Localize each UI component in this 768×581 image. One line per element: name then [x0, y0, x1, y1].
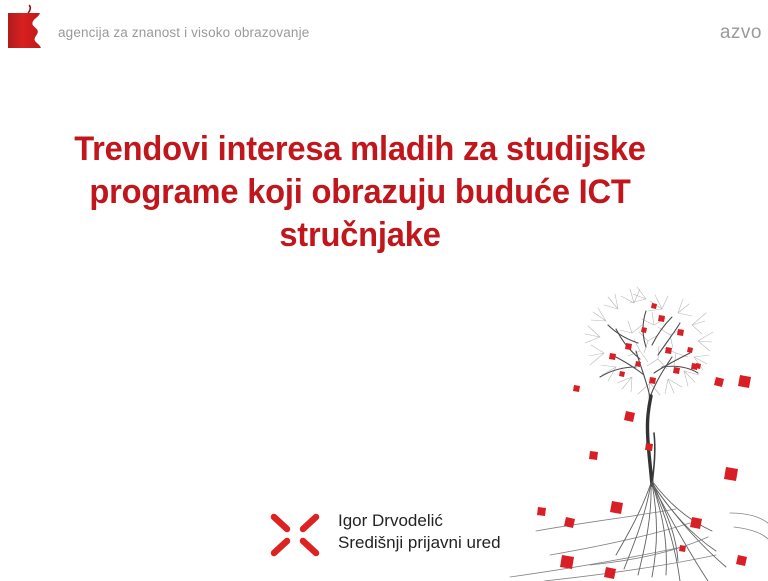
azvo-wordmark: azvo: [720, 22, 762, 44]
spu-four-dashes-x-icon: [266, 511, 324, 559]
azvo-apple-logo-icon: [8, 4, 46, 54]
presenter-name: Igor Drvodelić: [338, 510, 501, 532]
presenter-office: Središnji prijavni ured: [338, 532, 501, 554]
slide-title: Trendovi interesa mladih za studijske pr…: [40, 128, 680, 257]
slide-header: agencija za znanost i visoko obrazovanje…: [0, 0, 768, 62]
presentation-slide: agencija za znanost i visoko obrazovanje…: [0, 0, 768, 581]
title-line-2: programe koji obrazuju buduće ICT: [53, 171, 667, 214]
title-line-3: stručnjake: [53, 214, 667, 257]
organization-name: agencija za znanost i visoko obrazovanje: [58, 25, 309, 40]
presenter-block: Igor Drvodelić Središnji prijavni ured: [338, 510, 501, 554]
title-line-1: Trendovi interesa mladih za studijske: [53, 128, 667, 171]
